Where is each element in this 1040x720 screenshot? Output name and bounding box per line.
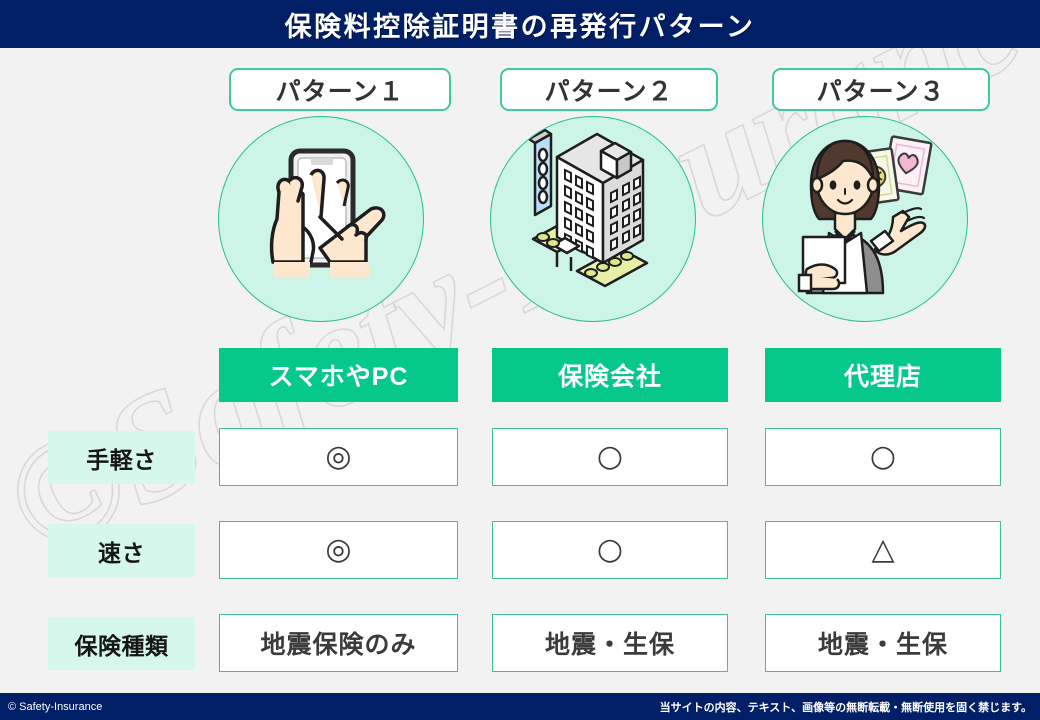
insurance-agent-icon [763,117,968,322]
column-header-2: 保険会社 [492,348,728,402]
smartphone-in-hands-icon [219,117,424,322]
cell-r3c2-text: 地震・生保 [545,625,675,661]
page-title-bar: 保険料控除証明書の再発行パターン [0,0,1040,48]
cell-r1c1: ◎ [219,428,458,486]
cell-r3c3: 地震・生保 [765,614,1001,672]
row-label-3-text: 保険種類 [75,627,169,661]
comparison-table: パターン１ パターン２ パターン３ [0,48,1040,693]
cell-r1c3: ○ [765,428,1001,486]
pattern-chip-3-label: パターン３ [817,72,946,108]
column-header-2-label: 保険会社 [558,357,662,393]
pattern-chip-2-label: パターン２ [545,72,674,108]
column-header-3-label: 代理店 [844,357,922,393]
cell-r2c2-mark: ○ [597,535,623,565]
pattern-chip-2: パターン２ [500,68,718,111]
cell-r1c1-mark: ◎ [325,442,351,472]
cell-r3c1: 地震保険のみ [219,614,458,672]
row-label-1: 手軽さ [48,431,195,484]
cell-r2c3: △ [765,521,1001,579]
pattern-chip-1: パターン１ [229,68,451,111]
footer-notice: 当サイトの内容、テキスト、画像等の無断転載・無断使用を固く禁じます。 [660,699,1032,715]
illustration-circle-3 [762,116,968,322]
page-title: 保険料控除証明書の再発行パターン [285,5,756,44]
cell-r3c1-text: 地震保険のみ [260,625,416,661]
cell-r2c1-mark: ◎ [325,535,351,565]
cell-r3c2: 地震・生保 [492,614,728,672]
cell-r3c3-text: 地震・生保 [818,625,948,661]
office-building-icon [491,117,696,322]
pattern-chip-3: パターン３ [772,68,990,111]
column-header-1-label: スマホやPC [269,357,409,393]
row-label-2-text: 速さ [98,534,145,568]
cell-r2c1: ◎ [219,521,458,579]
row-label-2: 速さ [48,524,195,577]
cell-r1c2: ○ [492,428,728,486]
footer-copyright: © Safety-Insurance [8,701,102,713]
cell-r2c3-mark: △ [871,535,894,565]
column-header-3: 代理店 [765,348,1001,402]
illustration-circle-1 [218,116,424,322]
illustration-circle-2 [490,116,696,322]
footer-bar: © Safety-Insurance 当サイトの内容、テキスト、画像等の無断転載… [0,693,1040,720]
column-header-1: スマホやPC [219,348,458,402]
pattern-chip-1-label: パターン１ [276,72,405,108]
row-label-3: 保険種類 [48,617,195,670]
cell-r1c2-mark: ○ [597,442,623,472]
cell-r1c3-mark: ○ [870,442,896,472]
cell-r2c2: ○ [492,521,728,579]
row-label-1-text: 手軽さ [86,441,157,475]
